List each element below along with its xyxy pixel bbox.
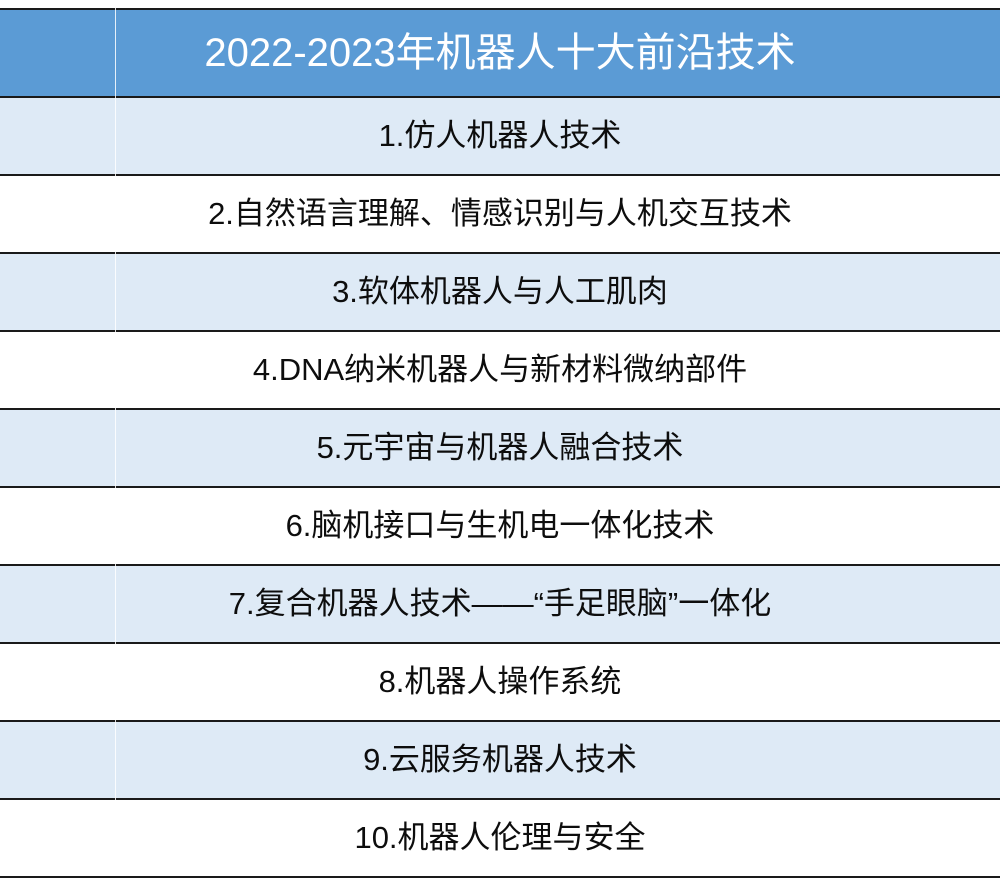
table-title-cell: 2022-2023年机器人十大前沿技术 — [0, 9, 1000, 97]
table-row: 6.脑机接口与生机电一体化技术 — [0, 487, 1000, 565]
table-row: 7.复合机器人技术——“手足眼脑”一体化 — [0, 565, 1000, 643]
table-header-row: 2022-2023年机器人十大前沿技术 — [0, 9, 1000, 97]
list-item-cell-6: 6.脑机接口与生机电一体化技术 — [0, 487, 1000, 565]
list-item-label: 5.元宇宙与机器人融合技术 — [0, 431, 1000, 465]
table-row: 1.仿人机器人技术 — [0, 97, 1000, 175]
list-item-label: 7.复合机器人技术——“手足眼脑”一体化 — [0, 587, 1000, 621]
list-item-cell-9: 9.云服务机器人技术 — [0, 721, 1000, 799]
table-row: 4.DNA纳米机器人与新材料微纳部件 — [0, 331, 1000, 409]
list-item-label: 3.软体机器人与人工肌肉 — [0, 275, 1000, 309]
table-row: 2.自然语言理解、情感识别与人机交互技术 — [0, 175, 1000, 253]
list-item-label: 4.DNA纳米机器人与新材料微纳部件 — [0, 353, 1000, 387]
list-item-label: 8.机器人操作系统 — [0, 665, 1000, 699]
list-item-cell-1: 1.仿人机器人技术 — [0, 97, 1000, 175]
list-item-label: 6.脑机接口与生机电一体化技术 — [0, 509, 1000, 543]
list-item-cell-5: 5.元宇宙与机器人融合技术 — [0, 409, 1000, 487]
list-item-cell-2: 2.自然语言理解、情感识别与人机交互技术 — [0, 175, 1000, 253]
table-body: 2022-2023年机器人十大前沿技术 1.仿人机器人技术 2.自然语言理解、情… — [0, 9, 1000, 877]
table-row: 9.云服务机器人技术 — [0, 721, 1000, 799]
table-row: 3.软体机器人与人工肌肉 — [0, 253, 1000, 331]
list-item-cell-3: 3.软体机器人与人工肌肉 — [0, 253, 1000, 331]
page-title: 2022-2023年机器人十大前沿技术 — [0, 31, 1000, 75]
list-item-label: 10.机器人伦理与安全 — [0, 821, 1000, 855]
top-ten-robotics-technologies-table: 2022-2023年机器人十大前沿技术 1.仿人机器人技术 2.自然语言理解、情… — [0, 8, 1000, 878]
table-row: 5.元宇宙与机器人融合技术 — [0, 409, 1000, 487]
list-item-cell-7: 7.复合机器人技术——“手足眼脑”一体化 — [0, 565, 1000, 643]
list-item-cell-8: 8.机器人操作系统 — [0, 643, 1000, 721]
list-item-cell-10: 10.机器人伦理与安全 — [0, 799, 1000, 877]
list-item-label: 9.云服务机器人技术 — [0, 743, 1000, 777]
table-row: 8.机器人操作系统 — [0, 643, 1000, 721]
list-item-label: 2.自然语言理解、情感识别与人机交互技术 — [0, 197, 1000, 231]
top-ten-robotics-technologies-table-container: 2022-2023年机器人十大前沿技术 1.仿人机器人技术 2.自然语言理解、情… — [0, 0, 1000, 878]
list-item-cell-4: 4.DNA纳米机器人与新材料微纳部件 — [0, 331, 1000, 409]
table-row: 10.机器人伦理与安全 — [0, 799, 1000, 877]
list-item-label: 1.仿人机器人技术 — [0, 119, 1000, 153]
